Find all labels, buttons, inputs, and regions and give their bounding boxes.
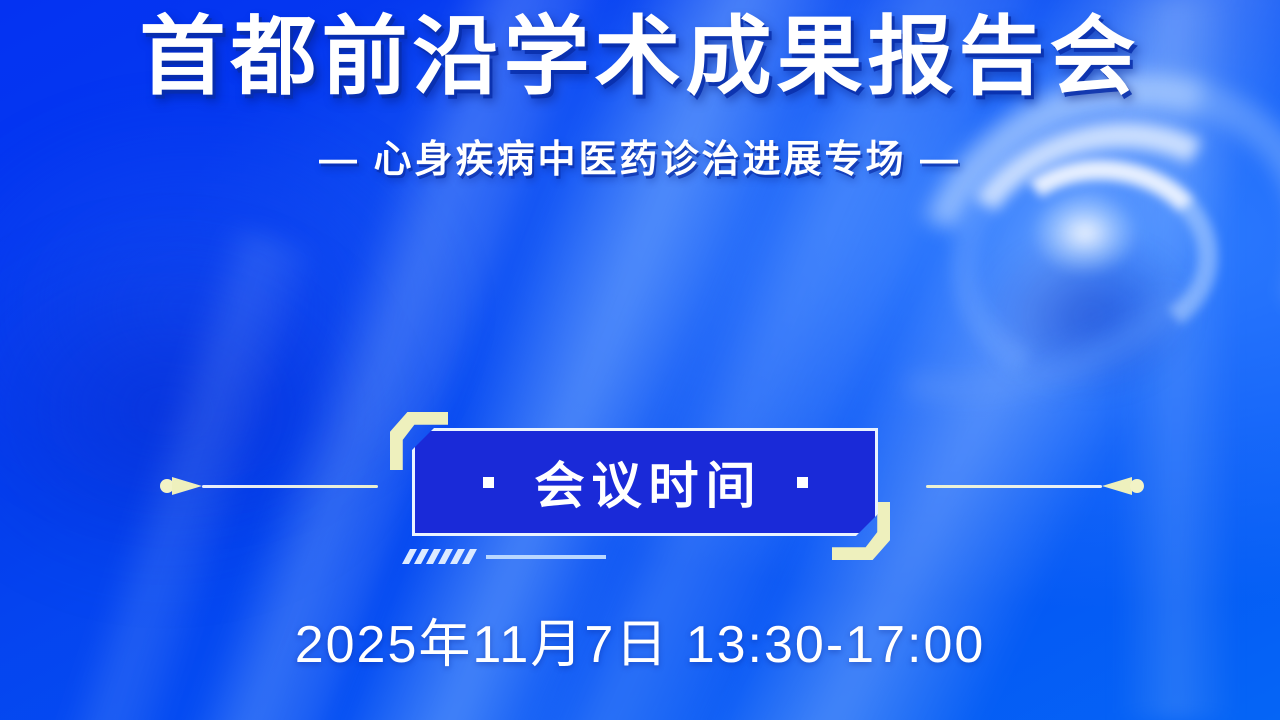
decorative-line-right <box>926 485 1102 488</box>
badge-panel: 会议时间 <box>412 428 878 536</box>
section-badge-row: 会议时间 <box>0 406 1280 566</box>
decorative-dot-right <box>1130 479 1144 493</box>
conference-poster: 首都前沿学术成果报告会 — 心身疾病中医药诊治进展专场 — 会议时间 <box>0 0 1280 720</box>
decorative-arrow-left <box>172 477 202 495</box>
section-badge: 会议时间 <box>390 412 890 560</box>
badge-hatch-decoration <box>406 549 606 564</box>
badge-label: 会议时间 <box>528 446 763 518</box>
headline-block: 首都前沿学术成果报告会 — 心身疾病中医药诊治进展专场 — <box>0 14 1280 183</box>
hatch-bar <box>462 549 477 564</box>
decorative-rule-right <box>902 406 1152 566</box>
decorative-rule-left <box>128 406 378 566</box>
hatch-bars <box>406 549 473 564</box>
swirl-core-highlight <box>1030 190 1140 276</box>
badge-dot-right-icon <box>797 477 808 488</box>
event-datetime: 2025年11月7日 13:30-17:00 <box>0 602 1280 677</box>
hatch-rule <box>486 555 606 559</box>
decorative-line-left <box>202 485 378 488</box>
page-title: 首都前沿学术成果报告会 <box>0 14 1280 102</box>
badge-dot-left-icon <box>483 477 494 488</box>
decorative-arrow-right <box>1102 477 1132 495</box>
page-subtitle: — 心身疾病中医药诊治进展专场 — <box>0 128 1280 183</box>
